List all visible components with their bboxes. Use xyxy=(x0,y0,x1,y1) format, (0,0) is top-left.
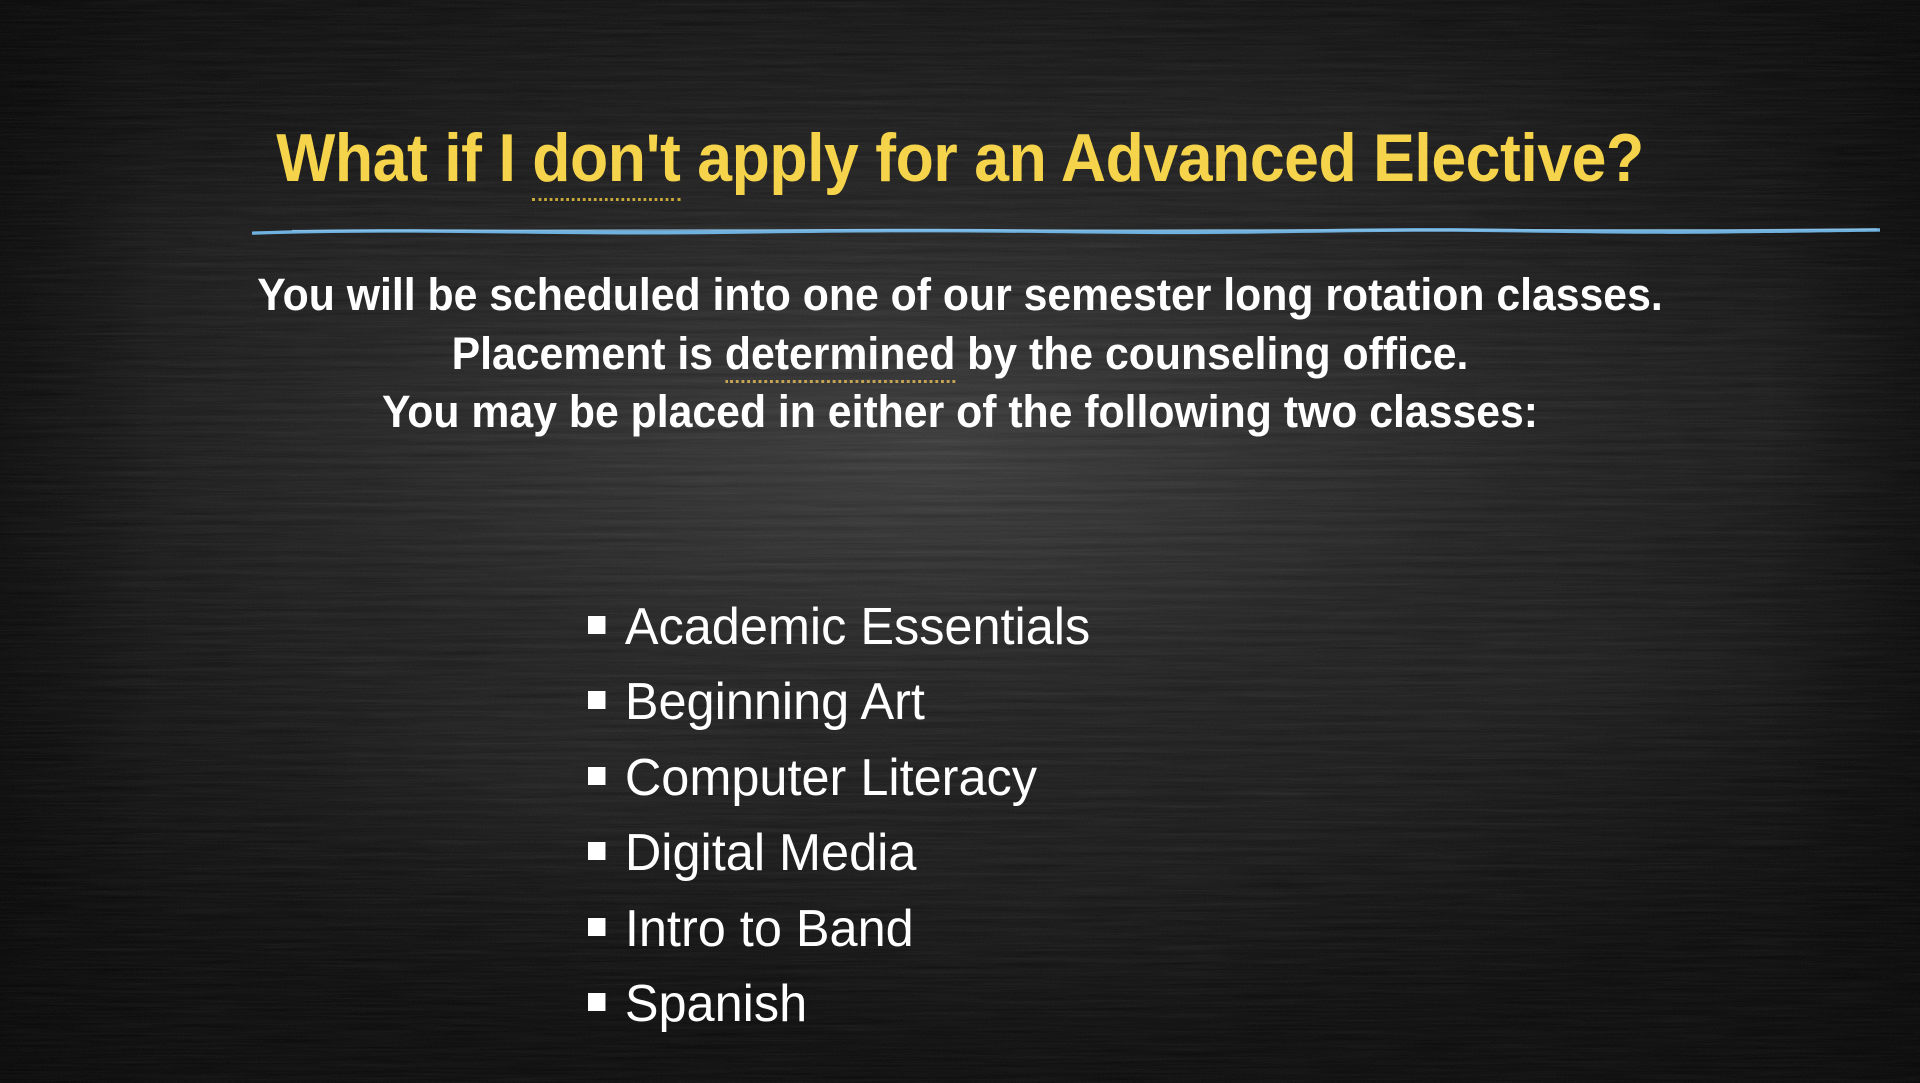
square-bullet-icon xyxy=(588,918,605,936)
list-item-label: Intro to Band xyxy=(625,898,914,961)
body-line-2: Placement is determined by the counselin… xyxy=(115,325,1806,384)
body-line-3: You may be placed in either of the follo… xyxy=(115,383,1806,442)
body-paragraph-1: You will be scheduled into one of our se… xyxy=(257,269,1662,320)
slide-body-text: You will be scheduled into one of our se… xyxy=(115,266,1806,442)
body-paragraph-2-misspelled-word: determined xyxy=(725,328,955,383)
slide-title-after: apply for an Advanced Elective? xyxy=(680,120,1643,196)
list-item-label: Spanish xyxy=(625,973,807,1036)
list-item-label: Academic Essentials xyxy=(625,596,1090,659)
body-paragraph-2-after: by the counseling office. xyxy=(955,328,1468,379)
slide-title-misspelled-word: don't xyxy=(532,120,680,201)
body-paragraph-2-before: Placement is xyxy=(452,328,725,379)
square-bullet-icon xyxy=(588,616,605,634)
square-bullet-icon xyxy=(588,691,605,709)
title-divider-line xyxy=(252,222,1880,238)
square-bullet-icon xyxy=(588,842,605,860)
list-item-label: Digital Media xyxy=(625,822,917,885)
body-line-1: You will be scheduled into one of our se… xyxy=(115,266,1806,325)
list-item: Intro to Band xyxy=(588,898,1461,961)
list-item: Academic Essentials xyxy=(588,596,1461,659)
slide-title-before: What if I xyxy=(276,120,532,196)
slide-title: What if I don't apply for an Advanced El… xyxy=(77,124,1843,192)
list-item-label: Computer Literacy xyxy=(625,747,1037,810)
list-item: Digital Media xyxy=(588,822,1461,885)
square-bullet-icon xyxy=(588,767,605,785)
square-bullet-icon xyxy=(588,993,605,1011)
list-item: Computer Literacy xyxy=(588,747,1461,810)
presentation-slide: What if I don't apply for an Advanced El… xyxy=(0,0,1920,1083)
list-item: Spanish xyxy=(588,973,1461,1036)
body-paragraph-3: You may be placed in either of the follo… xyxy=(382,386,1538,437)
class-options-list: Academic Essentials Beginning Art Comput… xyxy=(588,596,1488,1049)
list-item-label: Beginning Art xyxy=(625,671,925,734)
list-item: Beginning Art xyxy=(588,671,1461,734)
